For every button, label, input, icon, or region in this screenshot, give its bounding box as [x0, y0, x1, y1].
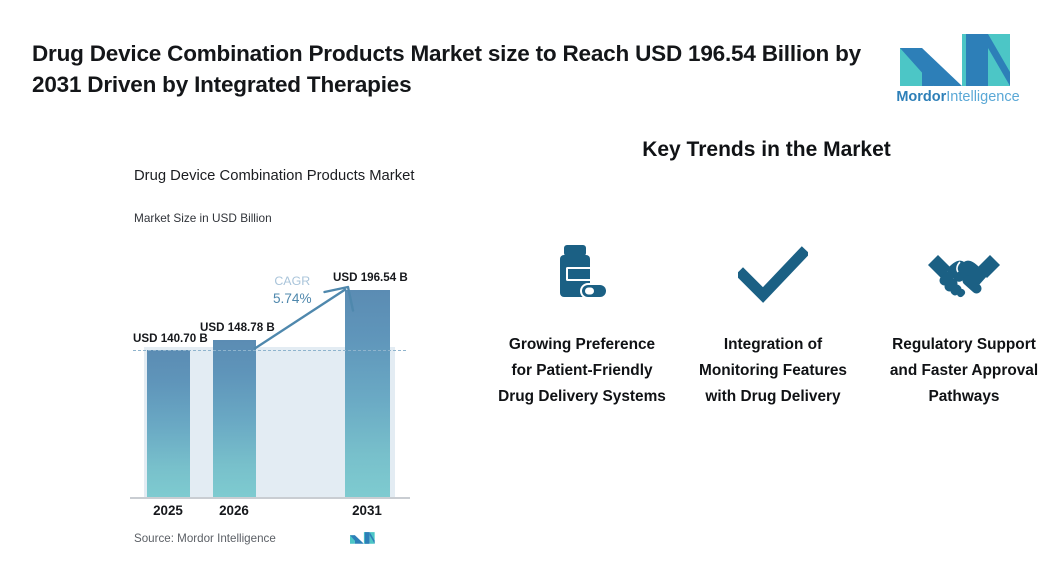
- x-axis-line: [130, 497, 410, 499]
- brand-logo: MordorIntelligence: [884, 30, 1032, 108]
- trend-label-2: Integration of Monitoring Features with …: [689, 332, 857, 410]
- trend-card-list: Growing Preference for Patient-Friendly …: [498, 238, 1048, 410]
- page-title: Drug Device Combination Products Market …: [32, 38, 862, 100]
- cagr-annotation: CAGR 5.74%: [273, 273, 312, 307]
- brand-word-intelligence: Intelligence: [946, 89, 1019, 105]
- mordor-intelligence-mini-mark: [350, 529, 376, 546]
- bar-2026: [213, 340, 256, 497]
- brand-word-mordor: Mordor: [896, 89, 946, 105]
- trend-label-1: Growing Preference for Patient-Friendly …: [498, 332, 666, 410]
- x-tick-2031: 2031: [332, 503, 402, 518]
- checkmark-icon: [738, 238, 808, 312]
- cagr-label: CAGR: [273, 273, 312, 290]
- bar-2025: [147, 350, 190, 497]
- cagr-value: 5.74%: [273, 290, 312, 307]
- medicine-bottle-icon: [552, 238, 612, 312]
- mordor-intelligence-mark: [900, 30, 1016, 86]
- trend-card-1: Growing Preference for Patient-Friendly …: [498, 238, 666, 410]
- brand-wordmark: MordorIntelligence: [884, 89, 1032, 105]
- chart-source: Source: Mordor Intelligence: [134, 532, 276, 545]
- page-header: Drug Device Combination Products Market …: [0, 0, 1063, 120]
- x-tick-2025: 2025: [133, 503, 203, 518]
- key-trends-panel: Key Trends in the Market Growing Prefere…: [470, 120, 1063, 588]
- key-trends-heading: Key Trends in the Market: [470, 138, 1063, 162]
- handshake-icon: [927, 238, 1001, 312]
- trend-card-2: Integration of Monitoring Features with …: [689, 238, 857, 410]
- bar-value-2025: USD 140.70 B: [133, 332, 208, 345]
- trend-label-3: Regulatory Support and Faster Approval P…: [880, 332, 1048, 410]
- x-tick-2026: 2026: [199, 503, 269, 518]
- chart-panel: Drug Device Combination Products Market …: [0, 120, 470, 588]
- bar-chart: USD 140.70 B USD 148.78 B USD 196.54 B C…: [0, 120, 470, 588]
- trend-card-3: Regulatory Support and Faster Approval P…: [880, 238, 1048, 410]
